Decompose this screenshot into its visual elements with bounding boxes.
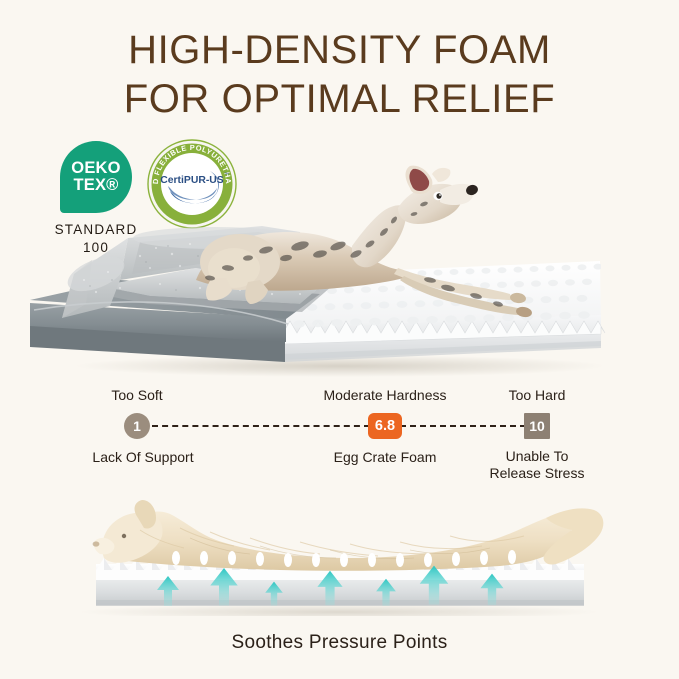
scale-label-too-soft: Too Soft (111, 386, 162, 404)
scale-dash-segment-left (152, 425, 370, 427)
scale-label-moderate-hardness: Moderate Hardness (324, 386, 447, 404)
product-photo-pressure-relief (0, 466, 679, 616)
scale-track: 1 6.8 10 (0, 413, 679, 439)
headline-line-1: HIGH-DENSITY FOAM (0, 26, 679, 75)
scale-sublabel-line-1: Unable To (506, 448, 569, 464)
scale-top-labels: Too Soft Moderate Hardness Too Hard (0, 386, 679, 406)
scale-marker-1[interactable]: 1 (124, 413, 150, 439)
scale-label-too-hard: Too Hard (509, 386, 566, 404)
scale-sublabel-lack-of-support: Lack Of Support (92, 448, 193, 466)
infographic-page: HIGH-DENSITY FOAM FOR OPTIMAL RELIEF OEK… (0, 0, 679, 679)
scale-bottom-labels: Lack Of Support Egg Crate Foam Unable To… (0, 448, 679, 468)
scale-dash-segment-right (400, 425, 526, 427)
footer-caption: Soothes Pressure Points (0, 632, 679, 654)
scale-marker-6-8[interactable]: 6.8 (368, 413, 402, 439)
headline-line-2: FOR OPTIMAL RELIEF (0, 75, 679, 124)
product-photo-bolster-bed (0, 128, 679, 380)
foam-hardness-scale: Too Soft Moderate Hardness Too Hard 1 6.… (0, 386, 679, 476)
scale-sublabel-egg-crate-foam: Egg Crate Foam (334, 448, 437, 466)
page-title: HIGH-DENSITY FOAM FOR OPTIMAL RELIEF (0, 26, 679, 124)
scale-marker-10[interactable]: 10 (524, 413, 550, 439)
